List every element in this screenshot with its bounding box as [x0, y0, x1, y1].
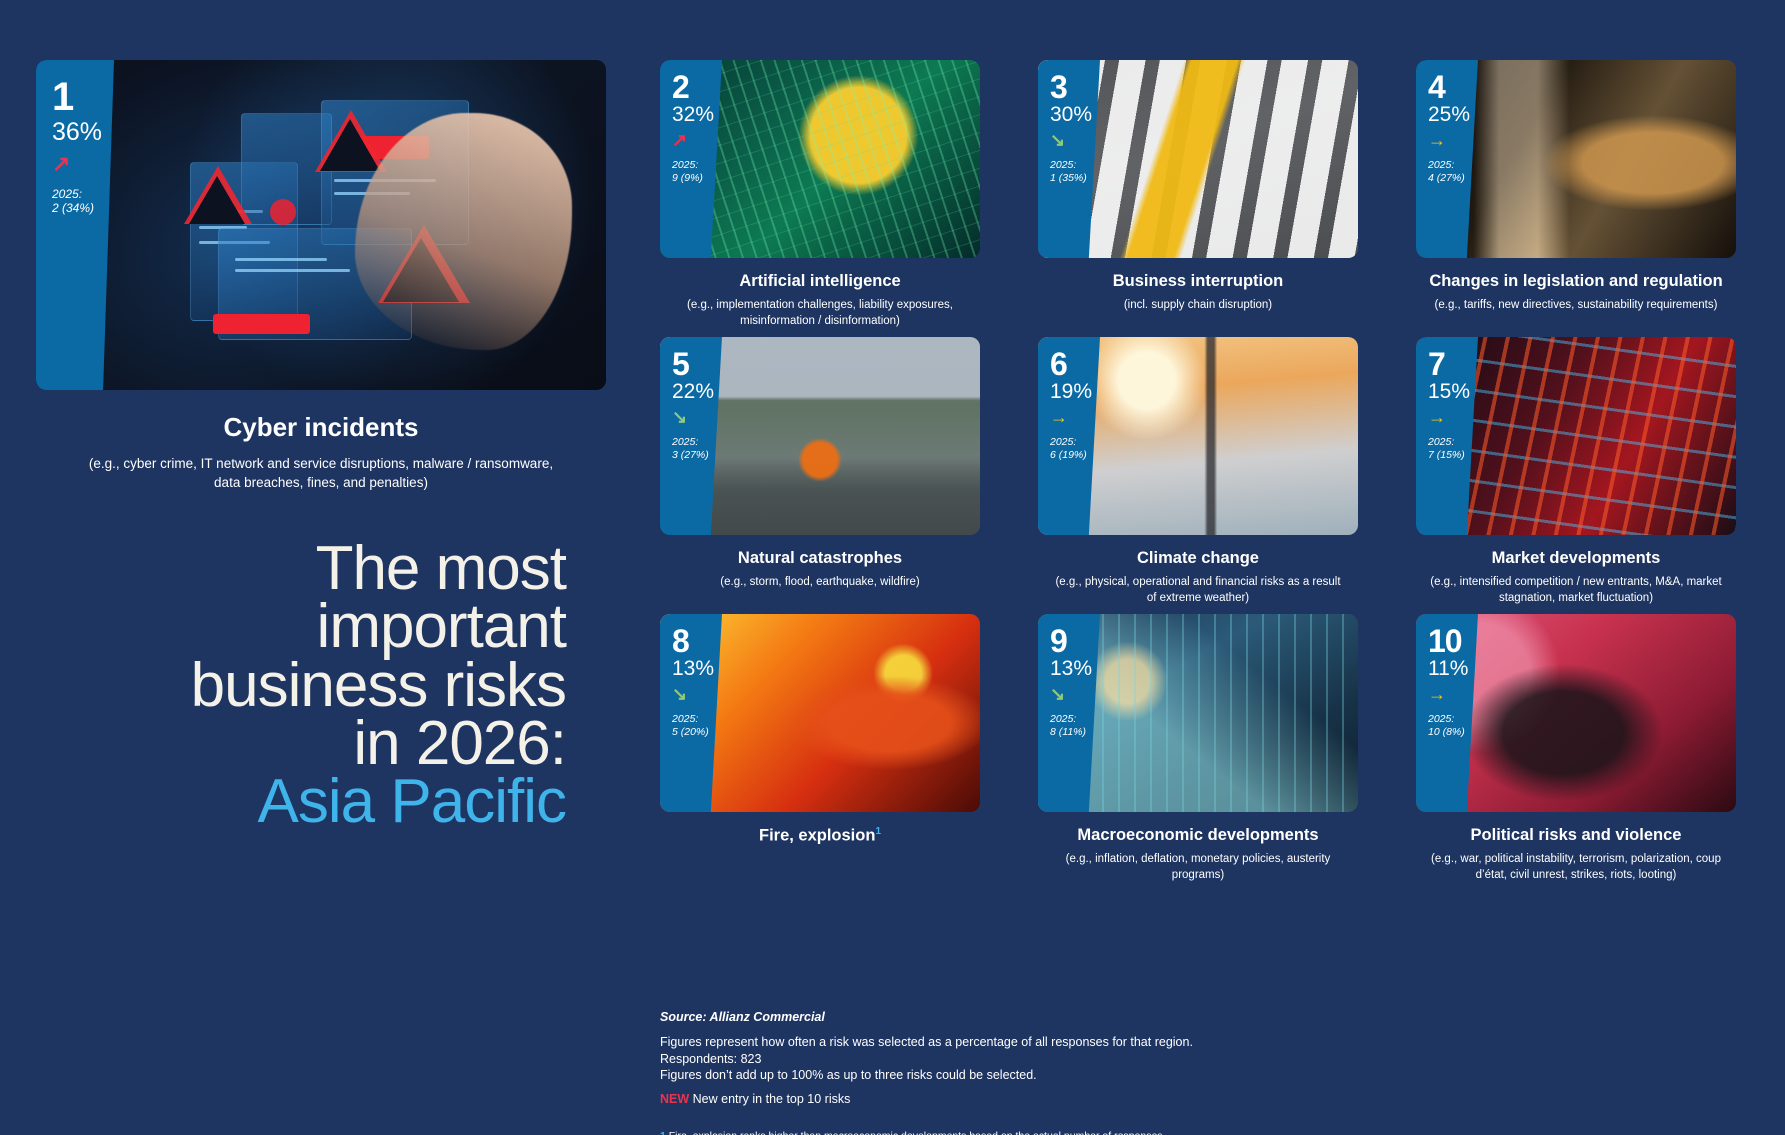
previous-rank-value: 8 (11%): [1050, 726, 1086, 738]
percent-value: 30%: [1050, 104, 1100, 125]
risk-card-7[interactable]: 7 15% → 2025:7 (15%) jo.pix / Shuttersto…: [1416, 337, 1736, 535]
rank-info: 2 32% ↗ 2025:9 (9%): [660, 60, 722, 184]
previous-rank: 2025:3 (27%): [672, 436, 722, 461]
risk-cell: 9 13% ↘ 2025:8 (11%) fitpinkcat84 / Adob…: [1038, 614, 1358, 883]
footer-notes: Source: Allianz Commercial Figures repre…: [660, 1010, 1640, 1135]
previous-year-label: 2025:: [52, 187, 82, 201]
previous-rank-value: 10 (8%): [1428, 726, 1465, 738]
previous-rank: 2025:10 (8%): [1428, 713, 1478, 738]
risk-caption: Natural catastrophes (e.g., storm, flood…: [660, 549, 980, 591]
previous-rank-value: 5 (20%): [672, 726, 709, 738]
hero-card[interactable]: 1 36% ↗ 2025:2 (34%) ImageFlow / Shutter…: [36, 60, 606, 390]
risk-title: Natural catastrophes: [660, 549, 980, 568]
risk-caption: Changes in legislation and regulation (e…: [1416, 272, 1736, 314]
source-line: Source: Allianz Commercial: [660, 1010, 1640, 1024]
infographic-root: 1 36% ↗ 2025:2 (34%) ImageFlow / Shutter…: [0, 0, 1785, 1135]
rank-number: 9: [1050, 626, 1100, 656]
risk-title: Fire, explosion1: [660, 826, 980, 846]
trend-arrow-flat-icon: →: [1428, 685, 1478, 703]
trend-arrow-flat-icon: →: [1428, 131, 1478, 149]
risk-description: (e.g., intensified competition / new ent…: [1416, 575, 1736, 606]
risk-description: (e.g., tariffs, new directives, sustaina…: [1416, 298, 1736, 314]
rank-number: 8: [672, 626, 722, 656]
footnote-new-entry: NEW New entry in the top 10 risks: [660, 1092, 1640, 1106]
risk-description: (incl. supply chain disruption): [1038, 298, 1358, 314]
rank-number: 2: [672, 72, 722, 102]
card-row: 2 32% ↗ 2025:9 (9%) Gorodenkoff / Shutte…: [660, 60, 1750, 337]
rank-number: 6: [1050, 349, 1100, 379]
previous-year-label: 2025:: [672, 159, 698, 171]
previous-year-label: 2025:: [1428, 159, 1454, 171]
cyber-incidents-photo: [36, 60, 606, 390]
risk-card-grid: 2 32% ↗ 2025:9 (9%) Gorodenkoff / Shutte…: [660, 60, 1750, 891]
rank-info: 9 13% ↘ 2025:8 (11%): [1038, 614, 1100, 738]
trend-arrow-up-icon: ↗: [672, 131, 722, 149]
risk-caption: Business interruption (incl. supply chai…: [1038, 272, 1358, 314]
risk-title: Climate change: [1038, 549, 1358, 568]
risk-description: (e.g., implementation challenges, liabil…: [660, 298, 980, 329]
risk-title: Business interruption: [1038, 272, 1358, 291]
previous-rank: 2025:4 (27%): [1428, 159, 1478, 184]
rank-info: 7 15% → 2025:7 (15%): [1416, 337, 1478, 461]
previous-rank-value: 1 (35%): [1050, 172, 1087, 184]
risk-cell: 3 30% ↘ 2025:1 (35%) Aleksandr Medvedkov…: [1038, 60, 1358, 314]
rank-info: 10 11% → 2025:10 (8%): [1416, 614, 1478, 738]
risk-description: (e.g., inflation, deflation, monetary po…: [1038, 852, 1358, 883]
risk-description: (e.g., war, political instability, terro…: [1416, 852, 1736, 883]
risk-description: (e.g., physical, operational and financi…: [1038, 575, 1358, 606]
risk-title-text: Fire, explosion: [759, 827, 875, 845]
risk-caption: Fire, explosion1: [660, 826, 980, 846]
footnote-number: 1: [660, 1130, 666, 1135]
risk-title: Artificial intelligence: [660, 272, 980, 291]
previous-rank: 2025:9 (9%): [672, 159, 722, 184]
warning-triangle-inner: [320, 119, 380, 171]
rank-number: 3: [1050, 72, 1100, 102]
trend-arrow-down-icon: ↘: [672, 685, 722, 703]
rank-number: 7: [1428, 349, 1478, 379]
footnote-1: 1 Fire, explosion ranks higher than macr…: [660, 1130, 1640, 1135]
rank-number: 1: [52, 78, 114, 116]
previous-year-label: 2025:: [1050, 159, 1076, 171]
previous-year-label: 2025:: [672, 713, 698, 725]
risk-card-8[interactable]: 8 13% ↘ 2025:5 (20%) vchie81 / Shutterst…: [660, 614, 980, 812]
hero-risk-title: Cyber incidents: [36, 412, 606, 443]
previous-rank: 2025:5 (20%): [672, 713, 722, 738]
footnote-figures: Figures represent how often a risk was s…: [660, 1034, 1640, 1051]
previous-rank: 2025:7 (15%): [1428, 436, 1478, 461]
footnote-marker: 1: [875, 826, 881, 837]
rank-info: 4 25% → 2025:4 (27%): [1416, 60, 1478, 184]
risk-cell: 2 32% ↗ 2025:9 (9%) Gorodenkoff / Shutte…: [660, 60, 980, 329]
rank-number: 4: [1428, 72, 1478, 102]
previous-rank-value: 9 (9%): [672, 172, 703, 184]
previous-rank-value: 4 (27%): [1428, 172, 1465, 184]
percent-value: 19%: [1050, 381, 1100, 402]
risk-title: Changes in legislation and regulation: [1416, 272, 1736, 291]
risk-caption: Political risks and violence (e.g., war,…: [1416, 826, 1736, 883]
page-title: The most important business risks in 202…: [36, 540, 566, 831]
risk-cell: 8 13% ↘ 2025:5 (20%) vchie81 / Shutterst…: [660, 614, 980, 853]
risk-card-2[interactable]: 2 32% ↗ 2025:9 (9%) Gorodenkoff / Shutte…: [660, 60, 980, 258]
risk-card-10[interactable]: 10 11% → 2025:10 (8%) MrArko / Shutterst…: [1416, 614, 1736, 812]
rank-info: 5 22% ↘ 2025:3 (27%): [660, 337, 722, 461]
risk-card-9[interactable]: 9 13% ↘ 2025:8 (11%) fitpinkcat84 / Adob…: [1038, 614, 1358, 812]
percent-value: 25%: [1428, 104, 1478, 125]
risk-title: Market developments: [1416, 549, 1736, 568]
risk-card-6[interactable]: 6 19% → 2025:6 (19%) Bilanol / Shutterst…: [1038, 337, 1358, 535]
percent-value: 36%: [52, 120, 114, 145]
previous-year-label: 2025:: [1050, 713, 1076, 725]
risk-cell: 10 11% → 2025:10 (8%) MrArko / Shutterst…: [1416, 614, 1736, 883]
previous-year-label: 2025:: [1428, 436, 1454, 448]
alert-bar: [213, 314, 310, 334]
rank-info: 8 13% ↘ 2025:5 (20%): [660, 614, 722, 738]
trend-arrow-up-icon: ↗: [52, 153, 114, 175]
risk-cell: 7 15% → 2025:7 (15%) jo.pix / Shuttersto…: [1416, 337, 1736, 606]
risk-caption: Artificial intelligence (e.g., implement…: [660, 272, 980, 329]
risk-cell: 4 25% → 2025:4 (27%) Halodachatverevnik …: [1416, 60, 1736, 314]
new-entry-text: New entry in the top 10 risks: [693, 1092, 851, 1106]
previous-rank-value: 7 (15%): [1428, 449, 1465, 461]
rank-info: 6 19% → 2025:6 (19%): [1038, 337, 1100, 461]
new-badge: NEW: [660, 1092, 689, 1106]
footnote-1-text: Fire, explosion ranks higher than macroe…: [669, 1130, 1163, 1135]
risk-title: Political risks and violence: [1416, 826, 1736, 845]
previous-rank: 2025:1 (35%): [1050, 159, 1100, 184]
rank-info: 3 30% ↘ 2025:1 (35%): [1038, 60, 1100, 184]
percent-value: 11%: [1428, 658, 1478, 679]
rank-info: 1 36% ↗ 2025:2 (34%): [36, 60, 114, 215]
percent-value: 32%: [672, 104, 722, 125]
hero-risk-description: (e.g., cyber crime, IT network and servi…: [36, 455, 606, 492]
previous-rank-value: 3 (27%): [672, 449, 709, 461]
risk-caption: Climate change (e.g., physical, operatio…: [1038, 549, 1358, 606]
risk-caption: Market developments (e.g., intensified c…: [1416, 549, 1736, 606]
percent-value: 13%: [1050, 658, 1100, 679]
risk-cell: 5 22% ↘ 2025:3 (27%) Bandersnatch / Shut…: [660, 337, 980, 591]
risk-caption: Macroeconomic developments (e.g., inflat…: [1038, 826, 1358, 883]
previous-rank-value: 6 (19%): [1050, 449, 1087, 461]
risk-cell: 6 19% → 2025:6 (19%) Bilanol / Shutterst…: [1038, 337, 1358, 606]
previous-rank-value: 2 (34%): [52, 201, 94, 215]
previous-year-label: 2025:: [672, 436, 698, 448]
footnote-respondents: Respondents: 823: [660, 1051, 1640, 1068]
trend-arrow-flat-icon: →: [1050, 408, 1100, 426]
title-region: Asia Pacific: [36, 773, 566, 831]
card-row: 5 22% ↘ 2025:3 (27%) Bandersnatch / Shut…: [660, 337, 1750, 614]
risk-description: (e.g., storm, flood, earthquake, wildfir…: [660, 575, 980, 591]
previous-rank: 2025:8 (11%): [1050, 713, 1100, 738]
risk-card-3[interactable]: 3 30% ↘ 2025:1 (35%) Aleksandr Medvedkov…: [1038, 60, 1358, 258]
hero-block: 1 36% ↗ 2025:2 (34%) ImageFlow / Shutter…: [36, 60, 606, 492]
percent-value: 13%: [672, 658, 722, 679]
previous-rank: 2025:2 (34%): [52, 187, 114, 215]
previous-year-label: 2025:: [1428, 713, 1454, 725]
trend-arrow-down-icon: ↘: [1050, 131, 1100, 149]
risk-title: Macroeconomic developments: [1038, 826, 1358, 845]
risk-card-4[interactable]: 4 25% → 2025:4 (27%) Halodachatverevnik …: [1416, 60, 1736, 258]
percent-value: 22%: [672, 381, 722, 402]
trend-arrow-down-icon: ↘: [1050, 685, 1100, 703]
footnote-total: Figures don’t add up to 100% as up to th…: [660, 1067, 1640, 1084]
trend-arrow-flat-icon: →: [1428, 408, 1478, 426]
previous-year-label: 2025:: [1050, 436, 1076, 448]
percent-value: 15%: [1428, 381, 1478, 402]
trend-arrow-down-icon: ↘: [672, 408, 722, 426]
card-row: 8 13% ↘ 2025:5 (20%) vchie81 / Shutterst…: [660, 614, 1750, 891]
rank-number: 5: [672, 349, 722, 379]
warning-triangle-inner: [189, 176, 245, 224]
rank-number: 10: [1428, 626, 1478, 656]
warning-dot-icon: [270, 199, 296, 225]
previous-rank: 2025:6 (19%): [1050, 436, 1100, 461]
risk-card-5[interactable]: 5 22% ↘ 2025:3 (27%) Bandersnatch / Shut…: [660, 337, 980, 535]
